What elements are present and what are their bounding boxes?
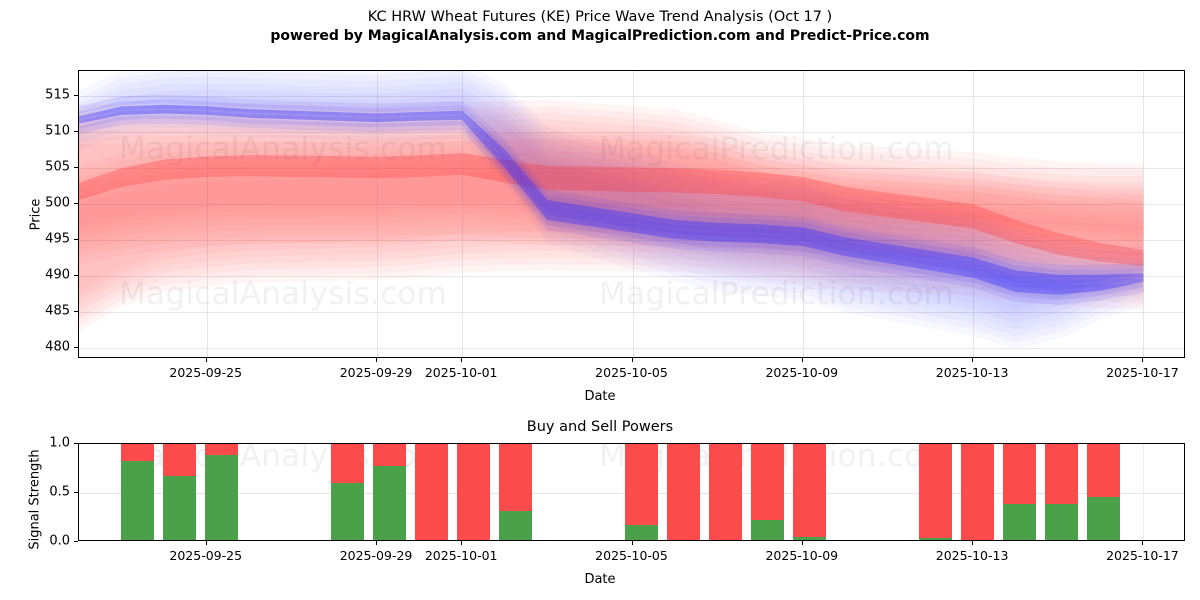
buy-power-bar bbox=[1087, 497, 1120, 541]
sell-power-bar bbox=[919, 444, 952, 538]
sell-power-bar bbox=[373, 444, 406, 466]
buy-power-bar bbox=[499, 511, 532, 541]
price-x-tick-mark bbox=[802, 358, 803, 362]
price-y-tick-label: 490 bbox=[45, 268, 70, 283]
buy-power-bar bbox=[793, 537, 826, 541]
price-y-tick-label: 495 bbox=[45, 232, 70, 247]
sell-power-bar bbox=[793, 444, 826, 537]
sell-power-bar bbox=[415, 444, 448, 541]
powers-y-tick-label: 1.0 bbox=[49, 436, 70, 451]
sell-power-bar bbox=[331, 444, 364, 483]
price-y-tick-label: 500 bbox=[45, 196, 70, 211]
price-y-tick-mark bbox=[74, 95, 78, 96]
sell-power-bar bbox=[961, 444, 994, 541]
sell-power-bar bbox=[667, 444, 700, 541]
buy-power-bar bbox=[163, 476, 196, 541]
price-y-tick-mark bbox=[74, 167, 78, 168]
buy-power-bar bbox=[751, 520, 784, 541]
powers-x-tick-mark bbox=[632, 541, 633, 545]
powers-x-tick-label: 2025-09-29 bbox=[340, 548, 413, 563]
buy-power-bar bbox=[919, 538, 952, 541]
price-x-axis-title: Date bbox=[0, 389, 1200, 404]
page-title: KC HRW Wheat Futures (KE) Price Wave Tre… bbox=[0, 8, 1200, 46]
buy-power-bar bbox=[1045, 504, 1078, 541]
powers-y-tick-mark bbox=[74, 443, 78, 444]
price-x-tick-mark bbox=[206, 358, 207, 362]
powers-x-tick-mark bbox=[206, 541, 207, 545]
powers-y-tick-label: 0.5 bbox=[49, 485, 70, 500]
price-y-tick-label: 480 bbox=[45, 340, 70, 355]
sell-power-bar bbox=[163, 444, 196, 476]
price-y-tick-mark bbox=[74, 311, 78, 312]
buy-sell-powers-chart: MagicalAnalysis.comMagicalPrediction.com bbox=[78, 443, 1185, 541]
chart-title: KC HRW Wheat Futures (KE) Price Wave Tre… bbox=[0, 8, 1200, 27]
price-x-tick-mark bbox=[376, 358, 377, 362]
price-y-tick-label: 510 bbox=[45, 124, 70, 139]
sell-power-bar bbox=[709, 444, 742, 541]
sell-power-bar bbox=[625, 444, 658, 525]
price-y-tick-mark bbox=[74, 131, 78, 132]
sell-power-bar bbox=[121, 444, 154, 461]
buy-power-bar bbox=[205, 455, 238, 541]
price-x-tick-label: 2025-10-09 bbox=[765, 365, 838, 380]
chart-page: KC HRW Wheat Futures (KE) Price Wave Tre… bbox=[0, 0, 1200, 600]
price-x-tick-label: 2025-09-25 bbox=[169, 365, 242, 380]
powers-y-tick-mark bbox=[74, 492, 78, 493]
powers-x-tick-label: 2025-10-09 bbox=[765, 548, 838, 563]
sell-power-bar bbox=[1045, 444, 1078, 504]
powers-y-axis-title: Signal Strength bbox=[28, 420, 43, 580]
powers-x-axis-title: Date bbox=[0, 572, 1200, 587]
price-y-tick-mark bbox=[74, 239, 78, 240]
price-y-tick-label: 505 bbox=[45, 160, 70, 175]
sell-power-bar bbox=[457, 444, 490, 541]
price-x-tick-mark bbox=[1142, 358, 1143, 362]
powers-chart-title: Buy and Sell Powers bbox=[0, 419, 1200, 435]
price-x-tick-mark bbox=[972, 358, 973, 362]
price-x-tick-label: 2025-09-29 bbox=[340, 365, 413, 380]
powers-x-tick-label: 2025-10-05 bbox=[595, 548, 668, 563]
price-band-layer bbox=[79, 71, 1185, 358]
buy-power-bar bbox=[625, 525, 658, 541]
powers-x-tick-label: 2025-10-17 bbox=[1106, 548, 1179, 563]
price-y-tick-mark bbox=[74, 203, 78, 204]
sell-power-bar bbox=[751, 444, 784, 520]
buy-power-bar bbox=[121, 461, 154, 541]
sell-power-bar bbox=[1003, 444, 1036, 504]
price-y-tick-label: 515 bbox=[45, 88, 70, 103]
chart-subtitle: powered by MagicalAnalysis.com and Magic… bbox=[0, 27, 1200, 46]
powers-vgridline bbox=[1143, 444, 1144, 540]
sell-power-bar bbox=[1087, 444, 1120, 497]
price-y-tick-mark bbox=[74, 275, 78, 276]
sell-power-bar bbox=[499, 444, 532, 511]
powers-x-tick-mark bbox=[376, 541, 377, 545]
buy-power-bar bbox=[373, 466, 406, 541]
powers-x-tick-mark bbox=[972, 541, 973, 545]
powers-x-tick-mark bbox=[802, 541, 803, 545]
price-x-tick-label: 2025-10-01 bbox=[425, 365, 498, 380]
powers-x-tick-label: 2025-10-01 bbox=[425, 548, 498, 563]
powers-x-tick-label: 2025-09-25 bbox=[169, 548, 242, 563]
price-wave-chart: MagicalAnalysis.comMagicalPrediction.com… bbox=[78, 70, 1185, 358]
powers-y-tick-mark bbox=[74, 541, 78, 542]
price-x-tick-label: 2025-10-17 bbox=[1106, 365, 1179, 380]
price-y-axis-title: Price bbox=[29, 175, 44, 255]
sell-power-bar bbox=[205, 444, 238, 455]
price-x-tick-label: 2025-10-05 bbox=[595, 365, 668, 380]
powers-x-tick-label: 2025-10-13 bbox=[936, 548, 1009, 563]
buy-power-bar bbox=[1003, 504, 1036, 541]
price-y-tick-mark bbox=[74, 347, 78, 348]
powers-x-tick-mark bbox=[461, 541, 462, 545]
price-x-tick-mark bbox=[461, 358, 462, 362]
powers-y-tick-label: 0.0 bbox=[49, 534, 70, 549]
price-x-tick-mark bbox=[632, 358, 633, 362]
powers-x-tick-mark bbox=[1142, 541, 1143, 545]
price-y-tick-label: 485 bbox=[45, 304, 70, 319]
buy-power-bar bbox=[331, 483, 364, 541]
price-x-tick-label: 2025-10-13 bbox=[936, 365, 1009, 380]
